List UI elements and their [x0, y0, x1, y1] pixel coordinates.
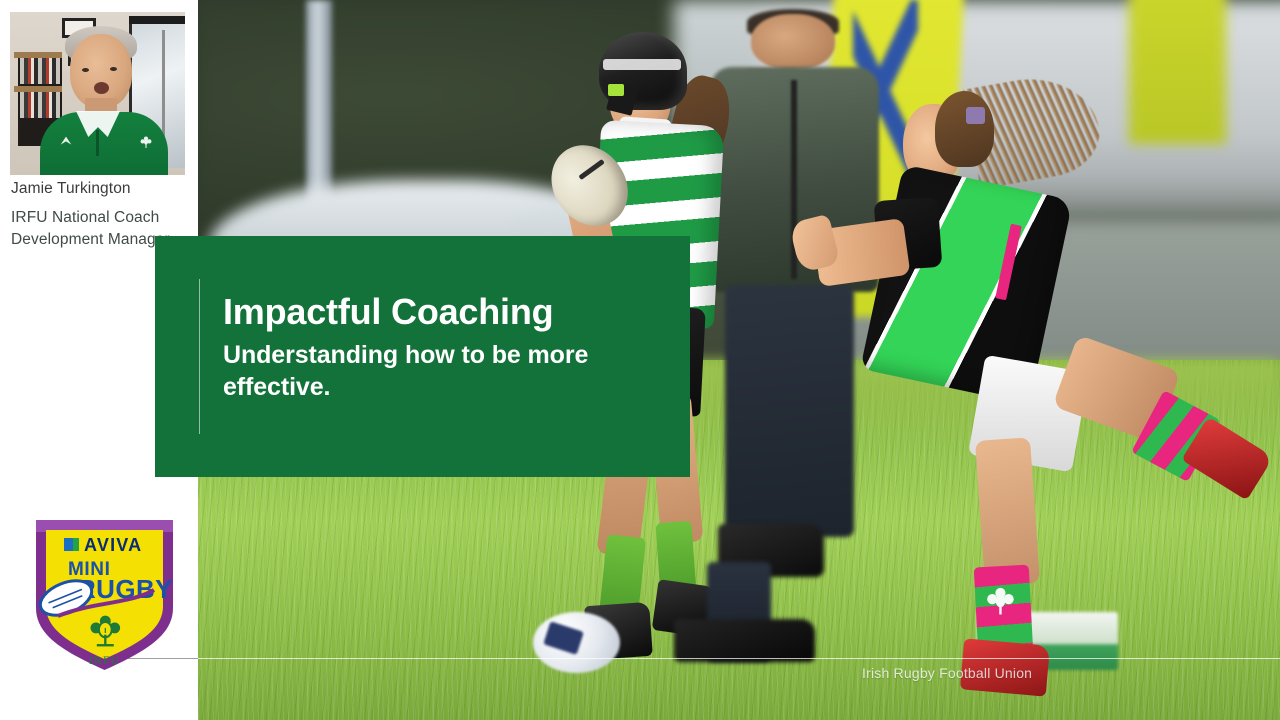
player2-hair-tie	[966, 107, 984, 123]
slide-title: Impactful Coaching	[223, 293, 663, 331]
webcam-person-eye-left	[82, 68, 89, 72]
title-accent-line	[199, 279, 200, 434]
player2-hair	[935, 91, 994, 167]
photo-divider-line	[198, 658, 1280, 659]
aviva-mini-rugby-logo: AVIVA MINI RUGBY	[22, 512, 187, 675]
title-card: Impactful Coaching Understanding how to …	[155, 236, 690, 477]
webcam-person-placket	[96, 130, 99, 156]
player1-mouthguard	[608, 84, 624, 96]
webcam-books-1	[20, 58, 60, 84]
presentation-slide: Irish Rugby Football Union	[0, 0, 1280, 720]
irfu-sock-shamrock-icon	[980, 579, 1021, 623]
player2-leg-standing	[975, 438, 1040, 587]
aviva-mini-rugby-shield-icon: AVIVA MINI RUGBY	[22, 512, 187, 675]
player1-cap-stripe	[603, 59, 681, 70]
svg-text:IRFU: IRFU	[89, 653, 120, 667]
webcam-window-top-bar	[129, 16, 185, 24]
webcam-books-2	[20, 92, 60, 118]
irfu-shamrock-icon	[138, 134, 154, 150]
photo-player-tackler	[826, 72, 1280, 706]
photo-watermark: Irish Rugby Football Union	[862, 665, 1032, 681]
webcam-person-head	[70, 34, 132, 108]
webcam-person-mouth	[94, 82, 109, 94]
webcam-video-thumbnail[interactable]	[10, 12, 185, 175]
photo-background-boot	[674, 619, 815, 662]
canterbury-logo-icon	[58, 134, 74, 150]
slide-subtitle: Understanding how to be more effective.	[223, 339, 623, 403]
webcam-person-eye-right	[110, 67, 117, 71]
svg-text:AVIVA: AVIVA	[84, 535, 142, 555]
speaker-name: Jamie Turkington	[11, 179, 191, 198]
